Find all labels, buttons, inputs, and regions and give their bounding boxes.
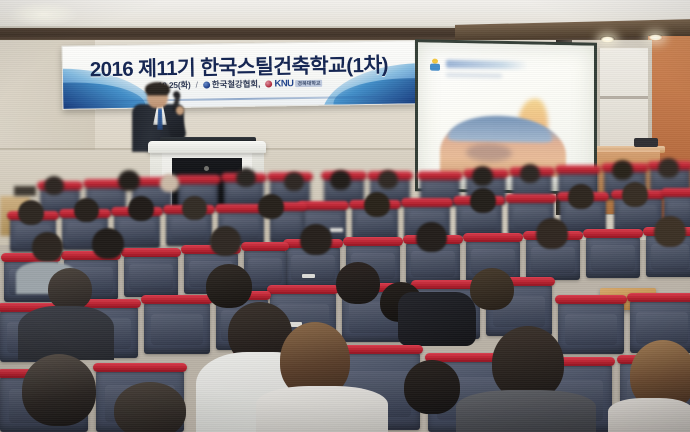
attendee-head — [160, 174, 179, 192]
attendee-head — [520, 164, 540, 183]
attendee-head — [44, 176, 64, 195]
attendee-head — [364, 192, 390, 217]
attendee-head — [206, 264, 252, 308]
organizer-name: 한국철강협회, — [212, 78, 261, 91]
seat — [586, 234, 640, 278]
attendee-shoulders — [608, 398, 690, 432]
attendee-head — [654, 216, 686, 247]
slide-title-blurred — [446, 60, 528, 70]
downlight-icon — [648, 34, 663, 41]
attendee-head — [48, 268, 92, 310]
attendee-head — [612, 160, 633, 180]
organizer-group: 한국철강협회, — [203, 78, 261, 91]
attendee-head — [404, 360, 460, 414]
attendee-head — [330, 170, 351, 190]
attendee-head — [114, 382, 186, 432]
attendee-head — [492, 326, 564, 400]
downlight-icon — [600, 36, 615, 43]
lecture-hall-photo: 2016 제11기 한국스틸건축학교(1차) .10.25(화) / 한국철강협… — [0, 0, 690, 432]
attendee-head — [210, 226, 241, 256]
alcove-shelf — [600, 96, 648, 99]
podium-top — [148, 141, 266, 153]
slide-subtitle-blurred — [446, 73, 502, 78]
attendee-head — [536, 218, 568, 249]
banner-separator: / — [195, 80, 197, 90]
sponsor-mark: KNU — [274, 78, 293, 89]
attendee-shoulders — [18, 306, 114, 360]
ceiling-light-glow — [8, 2, 78, 26]
attendee-head — [568, 184, 594, 209]
attendee-head — [378, 170, 398, 189]
attendee-head — [336, 262, 380, 304]
kosa-logo-icon — [203, 81, 210, 88]
microphone-head-icon — [173, 91, 180, 98]
podium-fitting — [204, 166, 209, 171]
bag-on-seat — [398, 292, 476, 346]
event-banner: 2016 제11기 한국스틸건축학교(1차) .10.25(화) / 한국철강협… — [62, 40, 417, 110]
seat — [124, 253, 178, 297]
attendee-head — [622, 182, 648, 207]
attendee-head — [236, 168, 256, 187]
attendee-head — [22, 354, 96, 426]
attendee-head — [32, 232, 63, 262]
knu-logo-icon — [265, 80, 272, 87]
attendee-head — [18, 200, 44, 225]
sponsor-name: 경북대학교 — [295, 79, 322, 86]
attendee-head — [284, 172, 304, 191]
attendee-head — [128, 196, 154, 221]
speaker-hand — [176, 106, 184, 115]
attendee-shoulders — [456, 390, 596, 432]
attendee-head — [118, 170, 140, 191]
seat — [558, 300, 624, 354]
counter-equipment — [634, 138, 658, 147]
attendee-head — [416, 222, 447, 252]
attendee-head — [470, 268, 514, 310]
attendee-head — [182, 196, 207, 220]
attendee-shoulders — [256, 386, 388, 432]
seat-number-tag — [302, 274, 315, 278]
speaker-head — [147, 84, 168, 108]
attendee-head — [258, 194, 284, 219]
sponsor-group: KNU 경북대학교 — [265, 77, 322, 89]
attendee-head — [300, 224, 332, 255]
attendee-head — [92, 228, 124, 259]
side-equipment — [14, 186, 36, 196]
seat — [144, 300, 210, 354]
seat-number-tag — [330, 228, 343, 232]
slide-logo-icon — [430, 59, 441, 72]
attendee-head — [470, 188, 496, 213]
attendee-head — [74, 198, 99, 222]
attendee-head — [658, 158, 679, 178]
attendee-head — [472, 166, 493, 186]
